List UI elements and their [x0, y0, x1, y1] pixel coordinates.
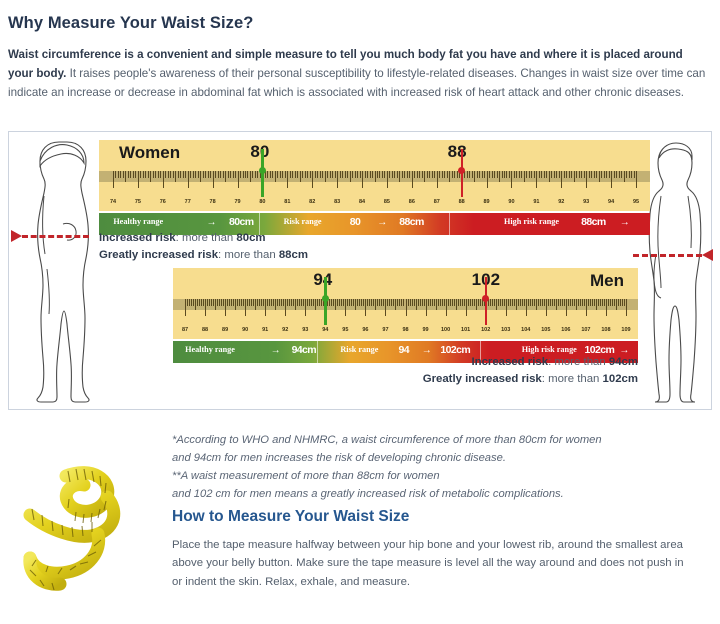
- ruler-tick: [193, 299, 194, 306]
- ruler-tick: [514, 171, 515, 178]
- men-increased-risk-line: Increased risk: more than 94cm: [273, 354, 638, 371]
- men-ruler-title: Men: [590, 271, 624, 291]
- how-to-measure-title: How to Measure Your Waist Size: [172, 508, 409, 526]
- ruler-tick: [480, 299, 481, 306]
- ruler-number: 105: [541, 327, 550, 333]
- ruler-tick: [397, 299, 398, 306]
- ruler-tick: [496, 299, 497, 310]
- men-risk-notes: Increased risk: more than 94cm Greatly i…: [273, 354, 638, 387]
- ruler-tick: [255, 171, 256, 178]
- ruler-tick: [198, 171, 199, 178]
- ruler-tick: [510, 299, 511, 306]
- women-risk-notes: Increased risk: more than 80cm Greatly i…: [99, 230, 308, 263]
- ruler-tick: [566, 299, 567, 316]
- page-title: Why Measure Your Waist Size?: [8, 14, 708, 33]
- ruler-tick: [532, 299, 533, 306]
- ruler-tick: [292, 171, 293, 178]
- ruler-tick: [551, 171, 552, 178]
- ruler-tick: [225, 171, 226, 182]
- intro-rest: It raises people's awareness of their pe…: [8, 67, 705, 99]
- ruler-tick: [389, 299, 390, 306]
- ruler-tick: [253, 299, 254, 306]
- ruler-tick: [233, 171, 234, 178]
- ruler-tick: [580, 299, 581, 306]
- ruler-tick: [542, 299, 543, 306]
- ruler-tick: [594, 171, 595, 178]
- ruler-tick: [556, 299, 557, 310]
- ruler-tick: [220, 171, 221, 178]
- ruler-tick: [315, 171, 316, 178]
- ruler-tick: [576, 299, 577, 310]
- ruler-tick: [275, 299, 276, 310]
- ruler-tick: [492, 171, 493, 178]
- men-risk-range-label: Risk range: [340, 345, 378, 354]
- ruler-number: 87: [434, 199, 440, 205]
- ruler-tick: [516, 171, 517, 178]
- ruler-tick: [606, 299, 607, 316]
- ruler-tick: [245, 299, 246, 316]
- ruler-tick: [355, 171, 356, 178]
- ruler-tick: [506, 299, 507, 316]
- ruler-tick: [419, 171, 420, 178]
- ruler-tick: [319, 299, 320, 306]
- ruler-tick: [173, 171, 174, 178]
- ruler-tick: [275, 171, 276, 182]
- ruler-tick: [569, 171, 570, 178]
- text: : more than: [176, 232, 237, 244]
- ruler-tick: [536, 171, 537, 188]
- ruler-tick: [514, 299, 515, 306]
- footnote-block: *According to WHO and NHMRC, a waist cir…: [172, 432, 700, 504]
- ruler-tick: [140, 171, 141, 178]
- ruler-tick: [381, 299, 382, 306]
- ruler-number: 87: [182, 327, 188, 333]
- ruler-tick: [448, 299, 449, 306]
- ruler-tick: [626, 299, 627, 316]
- ruler-tick: [345, 171, 346, 178]
- ruler-tick: [213, 171, 214, 188]
- ruler-tick: [468, 299, 469, 306]
- ruler-tick: [327, 171, 328, 178]
- ruler-number: 83: [334, 199, 340, 205]
- ruler-tick: [281, 299, 282, 306]
- ruler-tick: [526, 171, 527, 178]
- ruler-tick: [604, 299, 605, 306]
- ruler-tick: [257, 171, 258, 178]
- ruler-tick: [562, 299, 563, 306]
- ruler-tick: [185, 171, 186, 178]
- ruler-tick: [223, 299, 224, 306]
- ruler-tick: [399, 171, 400, 182]
- ruler-tick: [478, 299, 479, 306]
- ruler-tick: [556, 171, 557, 178]
- ruler-tick: [362, 171, 363, 188]
- ruler-tick: [446, 299, 447, 316]
- ruler-tick: [407, 171, 408, 178]
- ruler-tick: [422, 299, 423, 306]
- women-increased-risk-line: Increased risk: more than 80cm: [99, 230, 308, 247]
- ruler-tick: [205, 171, 206, 178]
- ruler-tick: [544, 299, 545, 306]
- ruler-tick: [208, 171, 209, 178]
- ruler-tick: [559, 171, 560, 178]
- ruler-tick: [315, 299, 316, 310]
- ruler-tick: [330, 171, 331, 178]
- footnote-line-3: **A waist measurement of more than 88cm …: [172, 468, 700, 486]
- ruler-tick: [504, 171, 505, 178]
- ruler-tick: [213, 299, 214, 306]
- woman-silhouette-icon: [23, 136, 97, 408]
- ruler-tick: [235, 171, 236, 178]
- ruler-tick: [499, 171, 500, 182]
- ruler-tick: [417, 171, 418, 178]
- ruler-number: 95: [633, 199, 639, 205]
- ruler-tick: [518, 299, 519, 306]
- ruler-tick: [437, 171, 438, 188]
- ruler-tick: [203, 299, 204, 306]
- ruler-tick: [568, 299, 569, 306]
- ruler-tick: [193, 171, 194, 178]
- ruler-tick: [279, 299, 280, 306]
- ruler-tick: [619, 171, 620, 178]
- ruler-tick: [434, 299, 435, 306]
- ruler-tick: [185, 299, 186, 316]
- ruler-tick: [233, 299, 234, 306]
- ruler-tick: [377, 299, 378, 306]
- women-high-risk-value: 88cm: [581, 216, 605, 228]
- ruler-tick: [305, 171, 306, 178]
- ruler-tick: [452, 299, 453, 306]
- ruler-number: 77: [185, 199, 191, 205]
- ruler-tick: [621, 171, 622, 178]
- ruler-tick: [313, 299, 314, 306]
- intro-paragraph: Waist circumference is a convenient and …: [8, 46, 708, 102]
- ruler-tick: [530, 299, 531, 306]
- tape-measure-photo: [6, 452, 156, 602]
- ruler-tick: [524, 171, 525, 182]
- ruler-tick: [520, 299, 521, 306]
- ruler-tick: [391, 299, 392, 306]
- value: 88cm: [279, 249, 308, 261]
- ruler-tick: [290, 171, 291, 178]
- ruler-tick: [479, 171, 480, 178]
- ruler-tick: [209, 299, 210, 306]
- ruler-tick: [414, 299, 415, 306]
- ruler-tick: [311, 299, 312, 306]
- ruler-tick: [529, 171, 530, 178]
- ruler-tick: [287, 299, 288, 306]
- ruler-tick: [272, 171, 273, 178]
- ruler-tick: [474, 171, 475, 182]
- ruler-tick: [522, 299, 523, 306]
- ruler-number: 107: [581, 327, 590, 333]
- ruler-tick: [265, 299, 266, 316]
- women-risk-arrow-icon: →: [377, 217, 387, 228]
- ruler-tick: [115, 171, 116, 178]
- ruler-tick: [188, 171, 189, 188]
- ruler-number: 100: [441, 327, 450, 333]
- women-risk-range-label: Risk range: [284, 217, 322, 226]
- ruler-number: 104: [521, 327, 530, 333]
- ruler-tick: [402, 171, 403, 178]
- ruler-tick: [183, 171, 184, 178]
- ruler-tick: [610, 299, 611, 306]
- ruler-tick: [289, 299, 290, 306]
- ruler-tick: [310, 171, 311, 178]
- ruler-tick: [283, 299, 284, 306]
- footnote-line-1: *According to WHO and NHMRC, a waist cir…: [172, 432, 700, 450]
- ruler-tick: [404, 171, 405, 178]
- ruler-number: 74: [110, 199, 116, 205]
- ruler-tick: [375, 171, 376, 182]
- ruler-tick: [511, 171, 512, 188]
- ruler-tick: [138, 171, 139, 188]
- ruler-tick: [375, 299, 376, 310]
- footnote-line-2: and 94cm for men increases the risk of d…: [172, 450, 700, 468]
- ruler-tick: [148, 171, 149, 178]
- ruler-tick: [472, 299, 473, 306]
- label: Greatly increased risk: [423, 373, 542, 385]
- ruler-tick: [238, 171, 239, 188]
- ruler-tick: [342, 171, 343, 178]
- ruler-tick: [462, 299, 463, 306]
- ruler-tick: [394, 171, 395, 178]
- ruler-number: 109: [621, 327, 630, 333]
- ruler-tick: [624, 299, 625, 306]
- ruler-tick: [299, 299, 300, 306]
- ruler-tick: [285, 299, 286, 316]
- ruler-tick: [586, 171, 587, 188]
- ruler-number: 89: [222, 327, 228, 333]
- ruler-tick: [123, 171, 124, 178]
- ruler-tick: [508, 299, 509, 306]
- ruler-tick: [243, 171, 244, 178]
- ruler-tick: [210, 171, 211, 178]
- ruler-number: 103: [501, 327, 510, 333]
- ruler-tick: [548, 299, 549, 306]
- ruler-number: 88: [459, 199, 465, 205]
- ruler-tick: [490, 299, 491, 306]
- ruler-tick: [410, 299, 411, 306]
- ruler-tick: [442, 299, 443, 306]
- ruler-tick: [363, 299, 364, 306]
- ruler-tick: [395, 299, 396, 310]
- men-healthy-range-label: Healthy range: [185, 345, 235, 354]
- ruler-number: 82: [309, 199, 315, 205]
- ruler-tick: [456, 299, 457, 310]
- ruler-tick: [293, 299, 294, 306]
- ruler-tick: [442, 171, 443, 178]
- ruler-tick: [403, 299, 404, 306]
- ruler-number: 96: [362, 327, 368, 333]
- ruler-tick: [367, 171, 368, 178]
- ruler-tick: [436, 299, 437, 310]
- ruler-tick: [372, 171, 373, 178]
- ruler-number: 90: [242, 327, 248, 333]
- women-greatly-increased-risk-line: Greatly increased risk: more than 88cm: [99, 247, 308, 264]
- ruler-tick: [217, 299, 218, 306]
- woman-waist-arrow: [11, 231, 89, 241]
- ruler-tick: [223, 171, 224, 178]
- ruler-tick: [370, 171, 371, 178]
- ruler-tick: [600, 299, 601, 306]
- ruler-tick: [333, 299, 334, 306]
- ruler-tick: [237, 299, 238, 306]
- ruler-tick: [347, 171, 348, 178]
- ruler-tick: [178, 171, 179, 178]
- ruler-tick: [444, 171, 445, 178]
- ruler-tick: [180, 171, 181, 178]
- ruler-tick: [504, 299, 505, 306]
- women-needle-88: [461, 149, 464, 197]
- ruler-number: 84: [359, 199, 365, 205]
- ruler-tick: [305, 299, 306, 316]
- ruler-tick: [464, 299, 465, 306]
- ruler-tick: [145, 171, 146, 178]
- ruler-tick: [143, 171, 144, 178]
- ruler-tick: [353, 299, 354, 306]
- ruler-tick: [574, 299, 575, 306]
- ruler-tick: [282, 171, 283, 178]
- ruler-tick: [128, 171, 129, 178]
- ruler-number: 79: [234, 199, 240, 205]
- ruler-number: 76: [160, 199, 166, 205]
- ruler-tick: [133, 171, 134, 178]
- ruler-tick: [427, 171, 428, 178]
- ruler-tick: [385, 299, 386, 316]
- ruler-tick: [598, 299, 599, 306]
- ruler-tick: [191, 299, 192, 306]
- ruler-tick: [602, 299, 603, 306]
- ruler-tick: [215, 299, 216, 310]
- text: : more than: [548, 356, 609, 368]
- ruler-tick: [432, 299, 433, 306]
- ruler-tick: [599, 171, 600, 182]
- ruler-tick: [267, 299, 268, 306]
- ruler-tick: [158, 171, 159, 178]
- ruler-tick: [409, 171, 410, 178]
- ruler-tick: [340, 171, 341, 178]
- ruler-tick: [434, 171, 435, 178]
- ruler-tick: [498, 299, 499, 306]
- ruler-tick: [612, 299, 613, 306]
- women-risk-from: 80: [350, 216, 360, 228]
- ruler-tick: [303, 299, 304, 306]
- women-marker-88-label: 88: [448, 142, 467, 162]
- ruler-tick: [377, 171, 378, 178]
- ruler-tick: [228, 171, 229, 178]
- ruler-tick: [572, 299, 573, 306]
- ruler-tick: [487, 171, 488, 188]
- ruler-tick: [211, 299, 212, 306]
- ruler-tick: [195, 299, 196, 310]
- women-scale-numbers: 7475767778798081828384858687888990919293…: [99, 199, 650, 211]
- ruler-tick: [538, 299, 539, 306]
- ruler-tick: [235, 299, 236, 310]
- ruler-tick: [608, 299, 609, 306]
- ruler-tick: [626, 171, 627, 178]
- ruler-tick: [125, 171, 126, 182]
- ruler-tick: [349, 299, 350, 306]
- ruler-tick: [521, 171, 522, 178]
- ruler-tick: [571, 171, 572, 178]
- ruler-tick: [365, 299, 366, 316]
- ruler-tick: [331, 299, 332, 306]
- ruler-tick: [560, 299, 561, 306]
- ruler-tick: [554, 299, 555, 306]
- ruler-tick: [494, 299, 495, 306]
- ruler-number: 93: [302, 327, 308, 333]
- ruler-tick: [337, 171, 338, 188]
- ruler-tick: [570, 299, 571, 306]
- ruler-tick: [295, 299, 296, 310]
- ruler-tick: [387, 299, 388, 306]
- ruler-tick: [564, 171, 565, 178]
- ruler-tick: [454, 299, 455, 306]
- colorbar-divider: [449, 213, 450, 235]
- ruler-tick: [387, 171, 388, 188]
- ruler-tick: [203, 171, 204, 178]
- ruler-tick: [541, 171, 542, 178]
- ruler-tick: [130, 171, 131, 178]
- ruler-tick: [401, 299, 402, 306]
- women-healthy-range-label: Healthy range: [113, 217, 163, 226]
- ruler-number: 88: [202, 327, 208, 333]
- ruler-tick: [187, 299, 188, 306]
- ruler-number: 98: [402, 327, 408, 333]
- ruler-tick: [332, 171, 333, 178]
- ruler-tick: [269, 299, 270, 306]
- ruler-tick: [594, 299, 595, 306]
- ruler-tick: [277, 171, 278, 178]
- ruler-tick: [482, 171, 483, 178]
- ruler-tick: [467, 171, 468, 178]
- ruler-number: 75: [135, 199, 141, 205]
- women-ruler-title: Women: [119, 143, 180, 163]
- ruler-number: 97: [382, 327, 388, 333]
- ruler-tick: [369, 299, 370, 306]
- ruler-tick: [309, 299, 310, 306]
- ruler-tick: [416, 299, 417, 310]
- ruler-tick: [449, 171, 450, 182]
- men-high-risk-label: High risk range: [522, 345, 577, 354]
- label: Increased risk: [99, 232, 176, 244]
- value: 102cm: [603, 373, 638, 385]
- ruler-tick: [631, 171, 632, 178]
- label: Greatly increased risk: [99, 249, 218, 261]
- ruler-tick: [357, 299, 358, 306]
- ruler-number: 85: [384, 199, 390, 205]
- ruler-tick: [550, 299, 551, 306]
- ruler-tick: [502, 299, 503, 306]
- ruler-tick: [611, 171, 612, 188]
- ruler-number: 99: [422, 327, 428, 333]
- ruler-tick: [352, 171, 353, 178]
- ruler-tick: [297, 299, 298, 306]
- ruler-tick: [163, 171, 164, 188]
- ruler-tick: [239, 299, 240, 306]
- ruler-tick: [252, 171, 253, 178]
- ruler-tick: [392, 171, 393, 178]
- ruler-tick: [524, 299, 525, 306]
- ruler-tick: [489, 171, 490, 178]
- ruler-tick: [361, 299, 362, 306]
- ruler-tick: [564, 299, 565, 306]
- ruler-tick: [250, 171, 251, 182]
- ruler-tick: [168, 171, 169, 178]
- ruler-tick: [384, 171, 385, 178]
- ruler-tick: [466, 299, 467, 316]
